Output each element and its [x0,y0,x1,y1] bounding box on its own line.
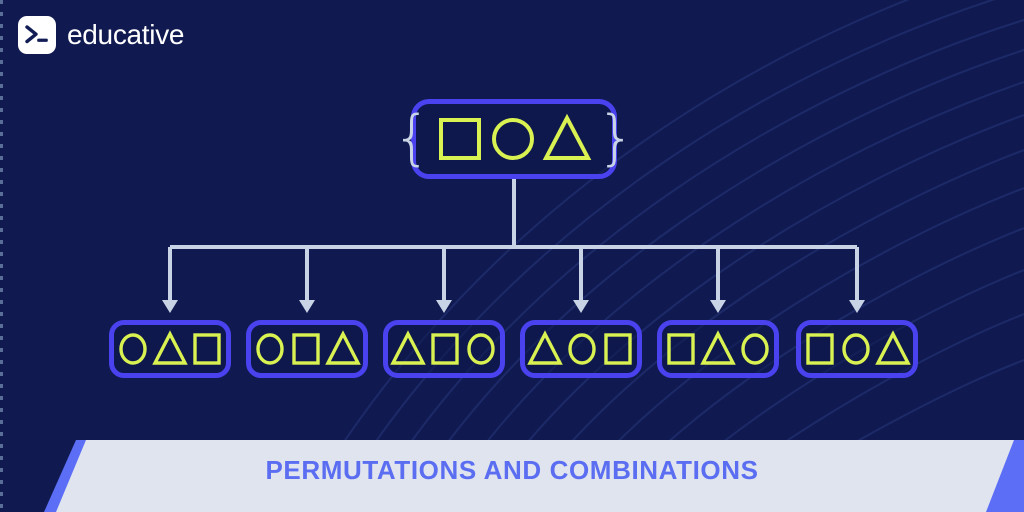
triangle-icon [152,329,188,369]
triangle-icon [700,329,736,369]
circle-icon [464,329,498,369]
triangle-icon [875,329,911,369]
shape-row [803,329,911,369]
square-icon [803,329,837,369]
shape-row [527,329,635,369]
square-icon [428,329,462,369]
triangle-icon [390,329,426,369]
circle-icon [487,111,539,167]
circle-icon [738,329,772,369]
permutation-node-6[interactable] [796,320,918,378]
shape-row [253,329,361,369]
square-icon [434,111,486,167]
shape-row [664,329,772,369]
slide-canvas: educative [0,0,1024,512]
shape-row [390,329,498,369]
root-set-node[interactable]: { } [411,99,617,179]
square-icon [664,329,698,369]
square-icon [289,329,323,369]
permutation-node-1[interactable] [109,320,231,378]
root-shape-row: { } [391,111,637,167]
page-title: PERMUTATIONS AND COMBINATIONS [0,455,1024,486]
permutation-node-5[interactable] [657,320,779,378]
permutation-node-2[interactable] [246,320,368,378]
triangle-icon [325,329,361,369]
triangle-icon [527,329,563,369]
circle-icon [565,329,599,369]
circle-icon [116,329,150,369]
shape-row [116,329,224,369]
circle-icon [253,329,287,369]
square-icon [601,329,635,369]
permutation-node-3[interactable] [383,320,505,378]
triangle-icon [540,111,594,167]
permutation-node-4[interactable] [520,320,642,378]
circle-icon [839,329,873,369]
square-icon [190,329,224,369]
permutation-diagram: { } [0,0,1024,440]
